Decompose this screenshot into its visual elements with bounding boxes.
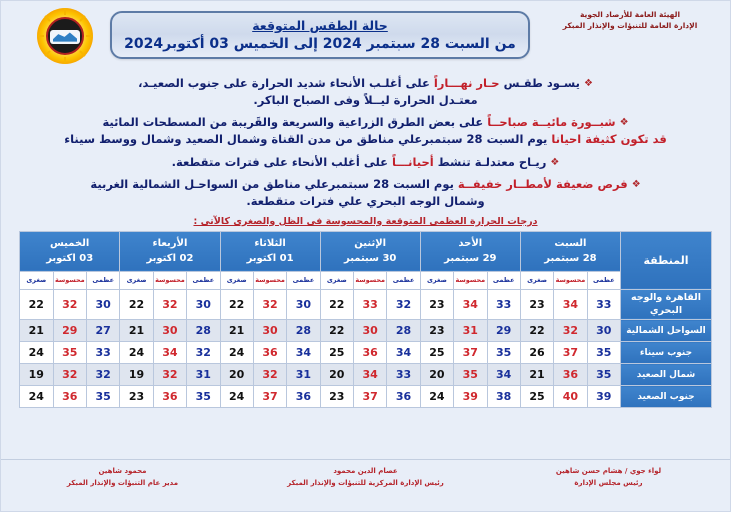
cell-r4-d4-max: 35 <box>187 386 220 408</box>
cell-r1-d0-felt: 32 <box>554 320 587 342</box>
cell-r0-d4-min: 22 <box>120 289 153 320</box>
cell-r1-d2-max: 28 <box>387 320 420 342</box>
cell-r3-d0-min: 21 <box>520 364 553 386</box>
table-row: القاهرة والوجه البحري 33 34 23 33 34 23 … <box>20 289 712 320</box>
day-name-2: الإثنين <box>321 236 420 251</box>
signature-name-1: عصام الدين محمود <box>244 466 487 478</box>
cell-r4-d5-min: 24 <box>20 386 54 408</box>
signature-name-2: لواء جوي / هشام حسن شاهين <box>487 466 730 478</box>
subheader-min-5: صغرى <box>20 271 54 289</box>
cell-r4-d4-felt: 36 <box>153 386 186 408</box>
cell-r2-d5-felt: 35 <box>53 342 86 364</box>
cell-r0-d0-min: 23 <box>520 289 553 320</box>
subheader-felt-2: محسوسة <box>354 271 387 289</box>
cell-r1-d5-felt: 29 <box>53 320 86 342</box>
cell-r2-d0-max: 35 <box>587 342 620 364</box>
cell-r1-d1-felt: 31 <box>454 320 487 342</box>
column-header-day-5: الخميس 03 اكتوبر <box>20 231 120 271</box>
cell-r0-d2-max: 32 <box>387 289 420 320</box>
temperature-table-caption: درجات الحرارة العظمى المتوقعة والمحسوسة … <box>1 216 730 227</box>
day-name-3: الثلاثاء <box>221 236 320 251</box>
cell-r3-d2-min: 20 <box>320 364 353 386</box>
bullet-line: ❖شبــورة مائيــة صباحــاً على بعض الطرق … <box>21 114 710 131</box>
weather-forecast-document: الهيئة العامة للأرصاد الجوية الإدارة الع… <box>0 0 731 512</box>
bullet-line-2: وشمال الوجه البحري علي فترات متقطعة. <box>21 193 710 210</box>
cell-r3-d3-min: 20 <box>220 364 253 386</box>
column-header-day-2: الإثنين 30 سبتمبر <box>320 231 420 271</box>
cell-r4-d1-max: 38 <box>487 386 520 408</box>
bullet-text-rest: على بعض الطرق الزراعية والسريعة والقَريب… <box>102 115 487 129</box>
cell-r3-d4-min: 19 <box>120 364 153 386</box>
cell-r2-d0-felt: 37 <box>554 342 587 364</box>
cell-r4-d4-min: 23 <box>120 386 153 408</box>
cell-r2-d3-min: 24 <box>220 342 253 364</box>
column-header-day-1: الأحد 29 سبتمبر <box>420 231 520 271</box>
day-name-0: السبت <box>521 236 620 251</box>
document-header: الهيئة العامة للأرصاد الجوية الإدارة الع… <box>1 1 730 69</box>
cell-r0-d1-felt: 34 <box>454 289 487 320</box>
organization-line-1: الهيئة العامة للأرصاد الجوية <box>540 9 720 20</box>
cell-r3-d1-max: 34 <box>487 364 520 386</box>
cell-r1-d4-max: 28 <box>187 320 220 342</box>
cell-r0-d3-felt: 32 <box>253 289 286 320</box>
subheader-felt-1: محسوسة <box>454 271 487 289</box>
cell-r2-d1-min: 25 <box>420 342 453 364</box>
cell-r1-d3-max: 28 <box>287 320 320 342</box>
signature-block-chairman: لواء جوي / هشام حسن شاهين رئيس مجلس الإد… <box>487 466 730 490</box>
list-item: ❖شبــورة مائيــة صباحــاً على بعض الطرق … <box>21 114 710 147</box>
bullet-text-rest: على أغلـب الأنحاء شديد الحرارة على جنوب … <box>138 76 434 90</box>
subheader-min-3: صغرى <box>220 271 253 289</box>
temperature-forecast-table: المنطقة السبت 28 سبتمبر الأحد 29 سبتمبر … <box>19 231 712 409</box>
table-row: السواحل الشمالية 30 32 22 29 31 23 28 30… <box>20 320 712 342</box>
cell-r3-d3-max: 31 <box>287 364 320 386</box>
cell-r1-d5-max: 27 <box>87 320 120 342</box>
cell-r1-d2-felt: 30 <box>354 320 387 342</box>
row-label-0: القاهرة والوجه البحري <box>621 289 712 320</box>
cell-r3-d1-felt: 35 <box>454 364 487 386</box>
cell-r2-d1-felt: 37 <box>454 342 487 364</box>
cell-r4-d0-max: 39 <box>587 386 620 408</box>
diamond-bullet-icon: ❖ <box>632 179 641 190</box>
day-name-1: الأحد <box>421 236 520 251</box>
cell-r3-d5-min: 19 <box>20 364 54 386</box>
table-row: شمال الصعيد 35 36 21 34 35 20 33 34 20 3… <box>20 364 712 386</box>
diamond-bullet-icon: ❖ <box>620 117 629 128</box>
title-banner: حالة الطقس المتوقعة من السبت 28 سبتمبر 2… <box>110 11 530 59</box>
day-date-2: 30 سبتمبر <box>321 251 420 266</box>
column-header-day-3: الثلاثاء 01 اكتوبر <box>220 231 320 271</box>
cell-r3-d3-felt: 32 <box>253 364 286 386</box>
cell-r1-d4-felt: 30 <box>153 320 186 342</box>
bullet-line-2: قد تكون كثيفة احيانا يوم السبت 28 سبتمبر… <box>21 131 710 148</box>
list-item: ❖ريـاح معتدلـة تنشط أحيانـــاً على أغلب … <box>21 154 710 171</box>
cell-r4-d0-min: 25 <box>520 386 553 408</box>
cell-r3-d5-max: 32 <box>87 364 120 386</box>
signature-title-1: رئيس الإدارة المركزية للتنبؤات والإنذار … <box>244 478 487 490</box>
column-header-day-4: الأربعاء 02 اكتوبر <box>120 231 220 271</box>
day-name-5: الخميس <box>20 236 119 251</box>
cell-r3-d4-max: 31 <box>187 364 220 386</box>
cell-r3-d2-max: 33 <box>387 364 420 386</box>
row-label-1: السواحل الشمالية <box>621 320 712 342</box>
cell-r2-d2-min: 25 <box>320 342 353 364</box>
day-date-5: 03 اكتوبر <box>20 251 119 266</box>
cell-r4-d2-min: 23 <box>320 386 353 408</box>
cell-r2-d2-felt: 36 <box>354 342 387 364</box>
cell-r2-d4-felt: 34 <box>153 342 186 364</box>
cell-r3-d2-felt: 34 <box>354 364 387 386</box>
subheader-max-2: عظمى <box>387 271 420 289</box>
egyptian-meteorological-authority-logo <box>34 7 96 65</box>
table-row: جنوب الصعيد 39 40 25 38 39 24 36 37 23 3… <box>20 386 712 408</box>
cell-r4-d3-max: 36 <box>287 386 320 408</box>
cell-r2-d3-felt: 36 <box>253 342 286 364</box>
bullet-text-highlight: أحيانـــاً <box>392 155 434 169</box>
day-date-1: 29 سبتمبر <box>421 251 520 266</box>
page-title: حالة الطقس المتوقعة <box>112 18 528 33</box>
cell-r0-d3-min: 22 <box>220 289 253 320</box>
cell-r2-d1-max: 35 <box>487 342 520 364</box>
cell-r1-d4-min: 21 <box>120 320 153 342</box>
cell-r1-d1-max: 29 <box>487 320 520 342</box>
cell-r1-d5-min: 21 <box>20 320 54 342</box>
cell-r0-d0-max: 33 <box>587 289 620 320</box>
bullet-text-rest: على أغلب الأنحاء على فترات متقطعة. <box>172 155 392 169</box>
subheader-felt-4: محسوسة <box>153 271 186 289</box>
subheader-min-4: صغرى <box>120 271 153 289</box>
cell-r0-d5-min: 22 <box>20 289 54 320</box>
forecast-date-range: من السبت 28 سبتمبر 2024 إلى الخميس 03 أك… <box>112 36 528 53</box>
row-label-3: شمال الصعيد <box>621 364 712 386</box>
cell-r1-d2-min: 22 <box>320 320 353 342</box>
signature-name-0: محمود شاهين <box>1 466 244 478</box>
table-body: القاهرة والوجه البحري 33 34 23 33 34 23 … <box>20 289 712 408</box>
subheader-min-0: صغرى <box>520 271 553 289</box>
day-name-4: الأربعاء <box>120 236 219 251</box>
cell-r4-d1-min: 24 <box>420 386 453 408</box>
subheader-max-1: عظمى <box>487 271 520 289</box>
cell-r2-d5-min: 24 <box>20 342 54 364</box>
cell-r0-d4-max: 30 <box>187 289 220 320</box>
cell-r0-d5-max: 30 <box>87 289 120 320</box>
cell-r4-d3-felt: 37 <box>253 386 286 408</box>
bullet-line: ❖يسـود طقـس حـار نهـــاراً على أغلـب الأ… <box>21 75 710 92</box>
cell-r3-d4-felt: 32 <box>153 364 186 386</box>
cell-r4-d2-max: 36 <box>387 386 420 408</box>
subheader-felt-0: محسوسة <box>554 271 587 289</box>
column-header-region: المنطقة <box>621 231 712 289</box>
cloud-mountain-icon <box>53 32 77 42</box>
cell-r0-d5-felt: 32 <box>53 289 86 320</box>
bullet-text-rest: يوم السبت 28 سبتمبرعلي مناطق من السواحـل… <box>90 177 458 191</box>
subheader-max-4: عظمى <box>187 271 220 289</box>
cell-r1-d0-max: 30 <box>587 320 620 342</box>
logo-ring <box>46 17 84 55</box>
document-footer: لواء جوي / هشام حسن شاهين رئيس مجلس الإد… <box>1 459 730 503</box>
list-item: ❖فرص ضعيفة لأمطــار خفيفــة يوم السبت 28… <box>21 176 710 209</box>
temperature-table-wrapper: المنطقة السبت 28 سبتمبر الأحد 29 سبتمبر … <box>19 231 712 409</box>
bullet-text-highlight: حـار نهـــاراً <box>434 76 500 90</box>
cell-r2-d4-min: 24 <box>120 342 153 364</box>
signature-title-0: مدير عام التنبؤات والإنذار المبكر <box>1 478 244 490</box>
cell-r2-d4-max: 32 <box>187 342 220 364</box>
signature-block-general-manager: محمود شاهين مدير عام التنبؤات والإنذار ا… <box>1 466 244 490</box>
subheader-felt-3: محسوسة <box>253 271 286 289</box>
cell-r0-d1-min: 23 <box>420 289 453 320</box>
bullet-text-rest-2: يوم السبت 28 سبتمبرعلي مناطق من مدن القن… <box>64 132 551 146</box>
bullet-text-highlight-2: قد تكون كثيفة احيانا <box>551 132 666 146</box>
day-date-0: 28 سبتمبر <box>521 251 620 266</box>
cell-r4-d2-felt: 37 <box>354 386 387 408</box>
organization-name: الهيئة العامة للأرصاد الجوية الإدارة الع… <box>540 9 720 32</box>
row-label-4: جنوب الصعيد <box>621 386 712 408</box>
cell-r4-d5-max: 35 <box>87 386 120 408</box>
table-head: المنطقة السبت 28 سبتمبر الأحد 29 سبتمبر … <box>20 231 712 289</box>
cell-r0-d0-felt: 34 <box>554 289 587 320</box>
subheader-max-3: عظمى <box>287 271 320 289</box>
cell-r3-d5-felt: 32 <box>53 364 86 386</box>
table-header-row-days: المنطقة السبت 28 سبتمبر الأحد 29 سبتمبر … <box>20 231 712 271</box>
bullet-text-highlight: فرص ضعيفة لأمطــار خفيفــة <box>458 177 628 191</box>
cell-r0-d3-max: 30 <box>287 289 320 320</box>
cell-r2-d0-min: 26 <box>520 342 553 364</box>
day-date-3: 01 اكتوبر <box>221 251 320 266</box>
organization-line-2: الإدارة العامة للتنبؤات والإنذار المبكر <box>540 20 720 31</box>
cell-r0-d2-min: 22 <box>320 289 353 320</box>
subheader-min-2: صغرى <box>320 271 353 289</box>
cell-r0-d4-felt: 32 <box>153 289 186 320</box>
cell-r4-d1-felt: 39 <box>454 386 487 408</box>
cell-r0-d2-felt: 33 <box>354 289 387 320</box>
day-date-4: 02 اكتوبر <box>120 251 219 266</box>
subheader-max-5: عظمى <box>87 271 120 289</box>
table-row: جنوب سيناء 35 37 26 35 37 25 34 36 25 34… <box>20 342 712 364</box>
cell-r3-d1-min: 20 <box>420 364 453 386</box>
signature-title-2: رئيس مجلس الإدارة <box>487 478 730 490</box>
bullet-line-2: معتـدل الحرارة ليــلاً وفى الصباح الباكر… <box>21 92 710 109</box>
cell-r1-d1-min: 23 <box>420 320 453 342</box>
diamond-bullet-icon: ❖ <box>584 78 593 89</box>
bullet-text-plain: ريـاح معتدلـة تنشط <box>434 155 547 169</box>
cell-r1-d3-min: 21 <box>220 320 253 342</box>
cell-r2-d3-max: 34 <box>287 342 320 364</box>
bullet-line: ❖ريـاح معتدلـة تنشط أحيانـــاً على أغلب … <box>21 154 710 171</box>
cell-r0-d1-max: 33 <box>487 289 520 320</box>
bullet-line: ❖فرص ضعيفة لأمطــار خفيفــة يوم السبت 28… <box>21 176 710 193</box>
bullet-text-highlight: شبــورة مائيــة صباحــاً <box>487 115 615 129</box>
diamond-bullet-icon: ❖ <box>550 157 559 168</box>
subheader-max-0: عظمى <box>587 271 620 289</box>
cell-r2-d5-max: 33 <box>87 342 120 364</box>
row-label-2: جنوب سيناء <box>621 342 712 364</box>
cell-r2-d2-max: 34 <box>387 342 420 364</box>
list-item: ❖يسـود طقـس حـار نهـــاراً على أغلـب الأ… <box>21 75 710 108</box>
table-header-row-metrics: عظمى محسوسة صغرى عظمى محسوسة صغرى عظمى م… <box>20 271 712 289</box>
column-header-day-0: السبت 28 سبتمبر <box>520 231 620 271</box>
cell-r4-d0-felt: 40 <box>554 386 587 408</box>
cell-r4-d3-min: 24 <box>220 386 253 408</box>
cell-r3-d0-max: 35 <box>587 364 620 386</box>
cell-r4-d5-felt: 36 <box>53 386 86 408</box>
signature-block-central-head: عصام الدين محمود رئيس الإدارة المركزية ل… <box>244 466 487 490</box>
cell-r3-d0-felt: 36 <box>554 364 587 386</box>
cell-r1-d3-felt: 30 <box>253 320 286 342</box>
forecast-summary-list: ❖يسـود طقـس حـار نهـــاراً على أغلـب الأ… <box>21 75 710 210</box>
bullet-text-plain: يسـود طقـس <box>500 76 580 90</box>
subheader-felt-5: محسوسة <box>53 271 86 289</box>
subheader-min-1: صغرى <box>420 271 453 289</box>
cell-r1-d0-min: 22 <box>520 320 553 342</box>
